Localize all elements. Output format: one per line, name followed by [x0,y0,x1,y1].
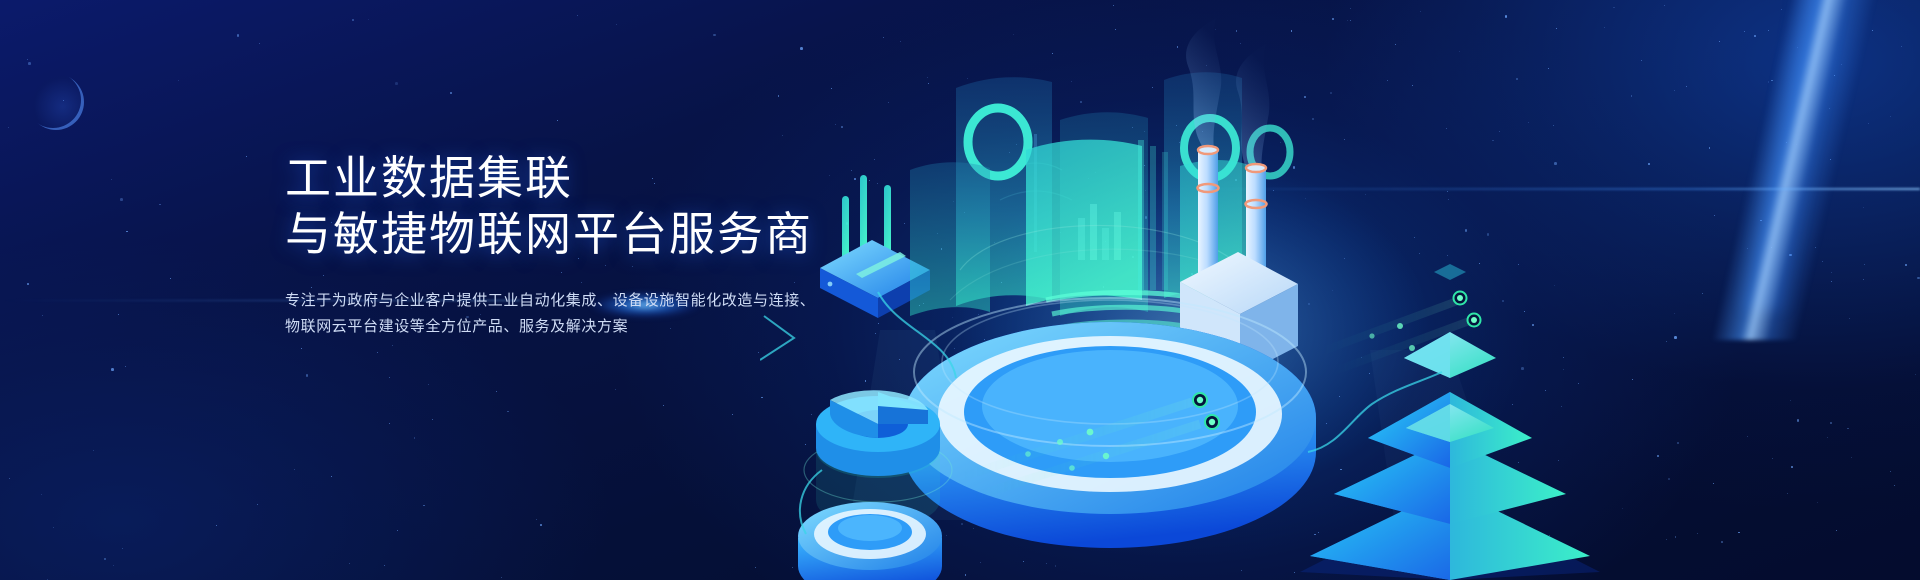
star [557,120,558,121]
star [414,437,416,439]
star [28,62,31,65]
star [368,19,369,20]
star [27,59,28,60]
star [758,352,759,353]
star [389,423,390,424]
star [111,368,114,371]
star [755,567,756,568]
star [159,204,161,206]
subtitle-line-2: 物联网云平台建设等全方位产品、服务及解决方案 [285,314,905,340]
crescent-moon-icon [28,74,84,130]
star [331,476,332,477]
star [616,24,617,25]
star [104,558,107,561]
star [496,391,497,392]
star [294,469,296,471]
star [501,577,502,578]
star [259,43,260,44]
star [450,92,452,94]
star [713,34,716,37]
hero-copy: 工业数据集联 与敏捷物联网平台服务商 专注于为政府与企业客户提供工业自动化集成、… [285,150,905,340]
star [732,414,733,415]
star [397,530,398,531]
star [306,374,309,377]
star [384,565,385,566]
star [389,377,390,378]
star [507,411,509,413]
chimney-tall [1198,150,1218,282]
hero-banner: 工业数据集联 与敏捷物联网平台服务商 专注于为政府与企业客户提供工业自动化集成、… [0,0,1920,580]
star [301,348,302,349]
subtitle-line-1: 专注于为政府与企业客户提供工业自动化集成、设备设施智能化改造与连接、 [285,288,905,314]
star [178,80,179,81]
star [126,231,128,233]
headline-line-1: 工业数据集联 [285,150,905,206]
star [93,450,94,451]
star [120,198,123,201]
star [41,494,43,496]
star [118,314,119,315]
star [395,82,398,85]
star [536,519,537,520]
star [246,156,247,157]
star [392,345,393,346]
star [423,505,425,507]
star [615,389,616,390]
star [42,315,43,316]
star [352,19,354,21]
star [237,34,240,37]
star [663,405,664,406]
star [257,504,258,505]
tower-slats [1138,140,1168,290]
accent-cube [1434,264,1466,280]
star [170,278,171,279]
star [428,384,429,385]
star [377,352,378,353]
star [27,283,29,285]
small-disc [798,502,942,580]
headline-line-2: 与敏捷物联网平台服务商 [285,206,905,262]
star [113,565,114,566]
star [111,179,112,180]
star [577,15,578,16]
star [47,579,48,580]
star [540,524,542,526]
star [125,366,126,367]
star [349,563,350,564]
star [8,127,9,128]
star [122,548,123,549]
star [53,527,54,528]
star [216,525,217,526]
star [432,419,433,420]
isometric-illustration [760,0,1920,580]
star [9,478,10,479]
